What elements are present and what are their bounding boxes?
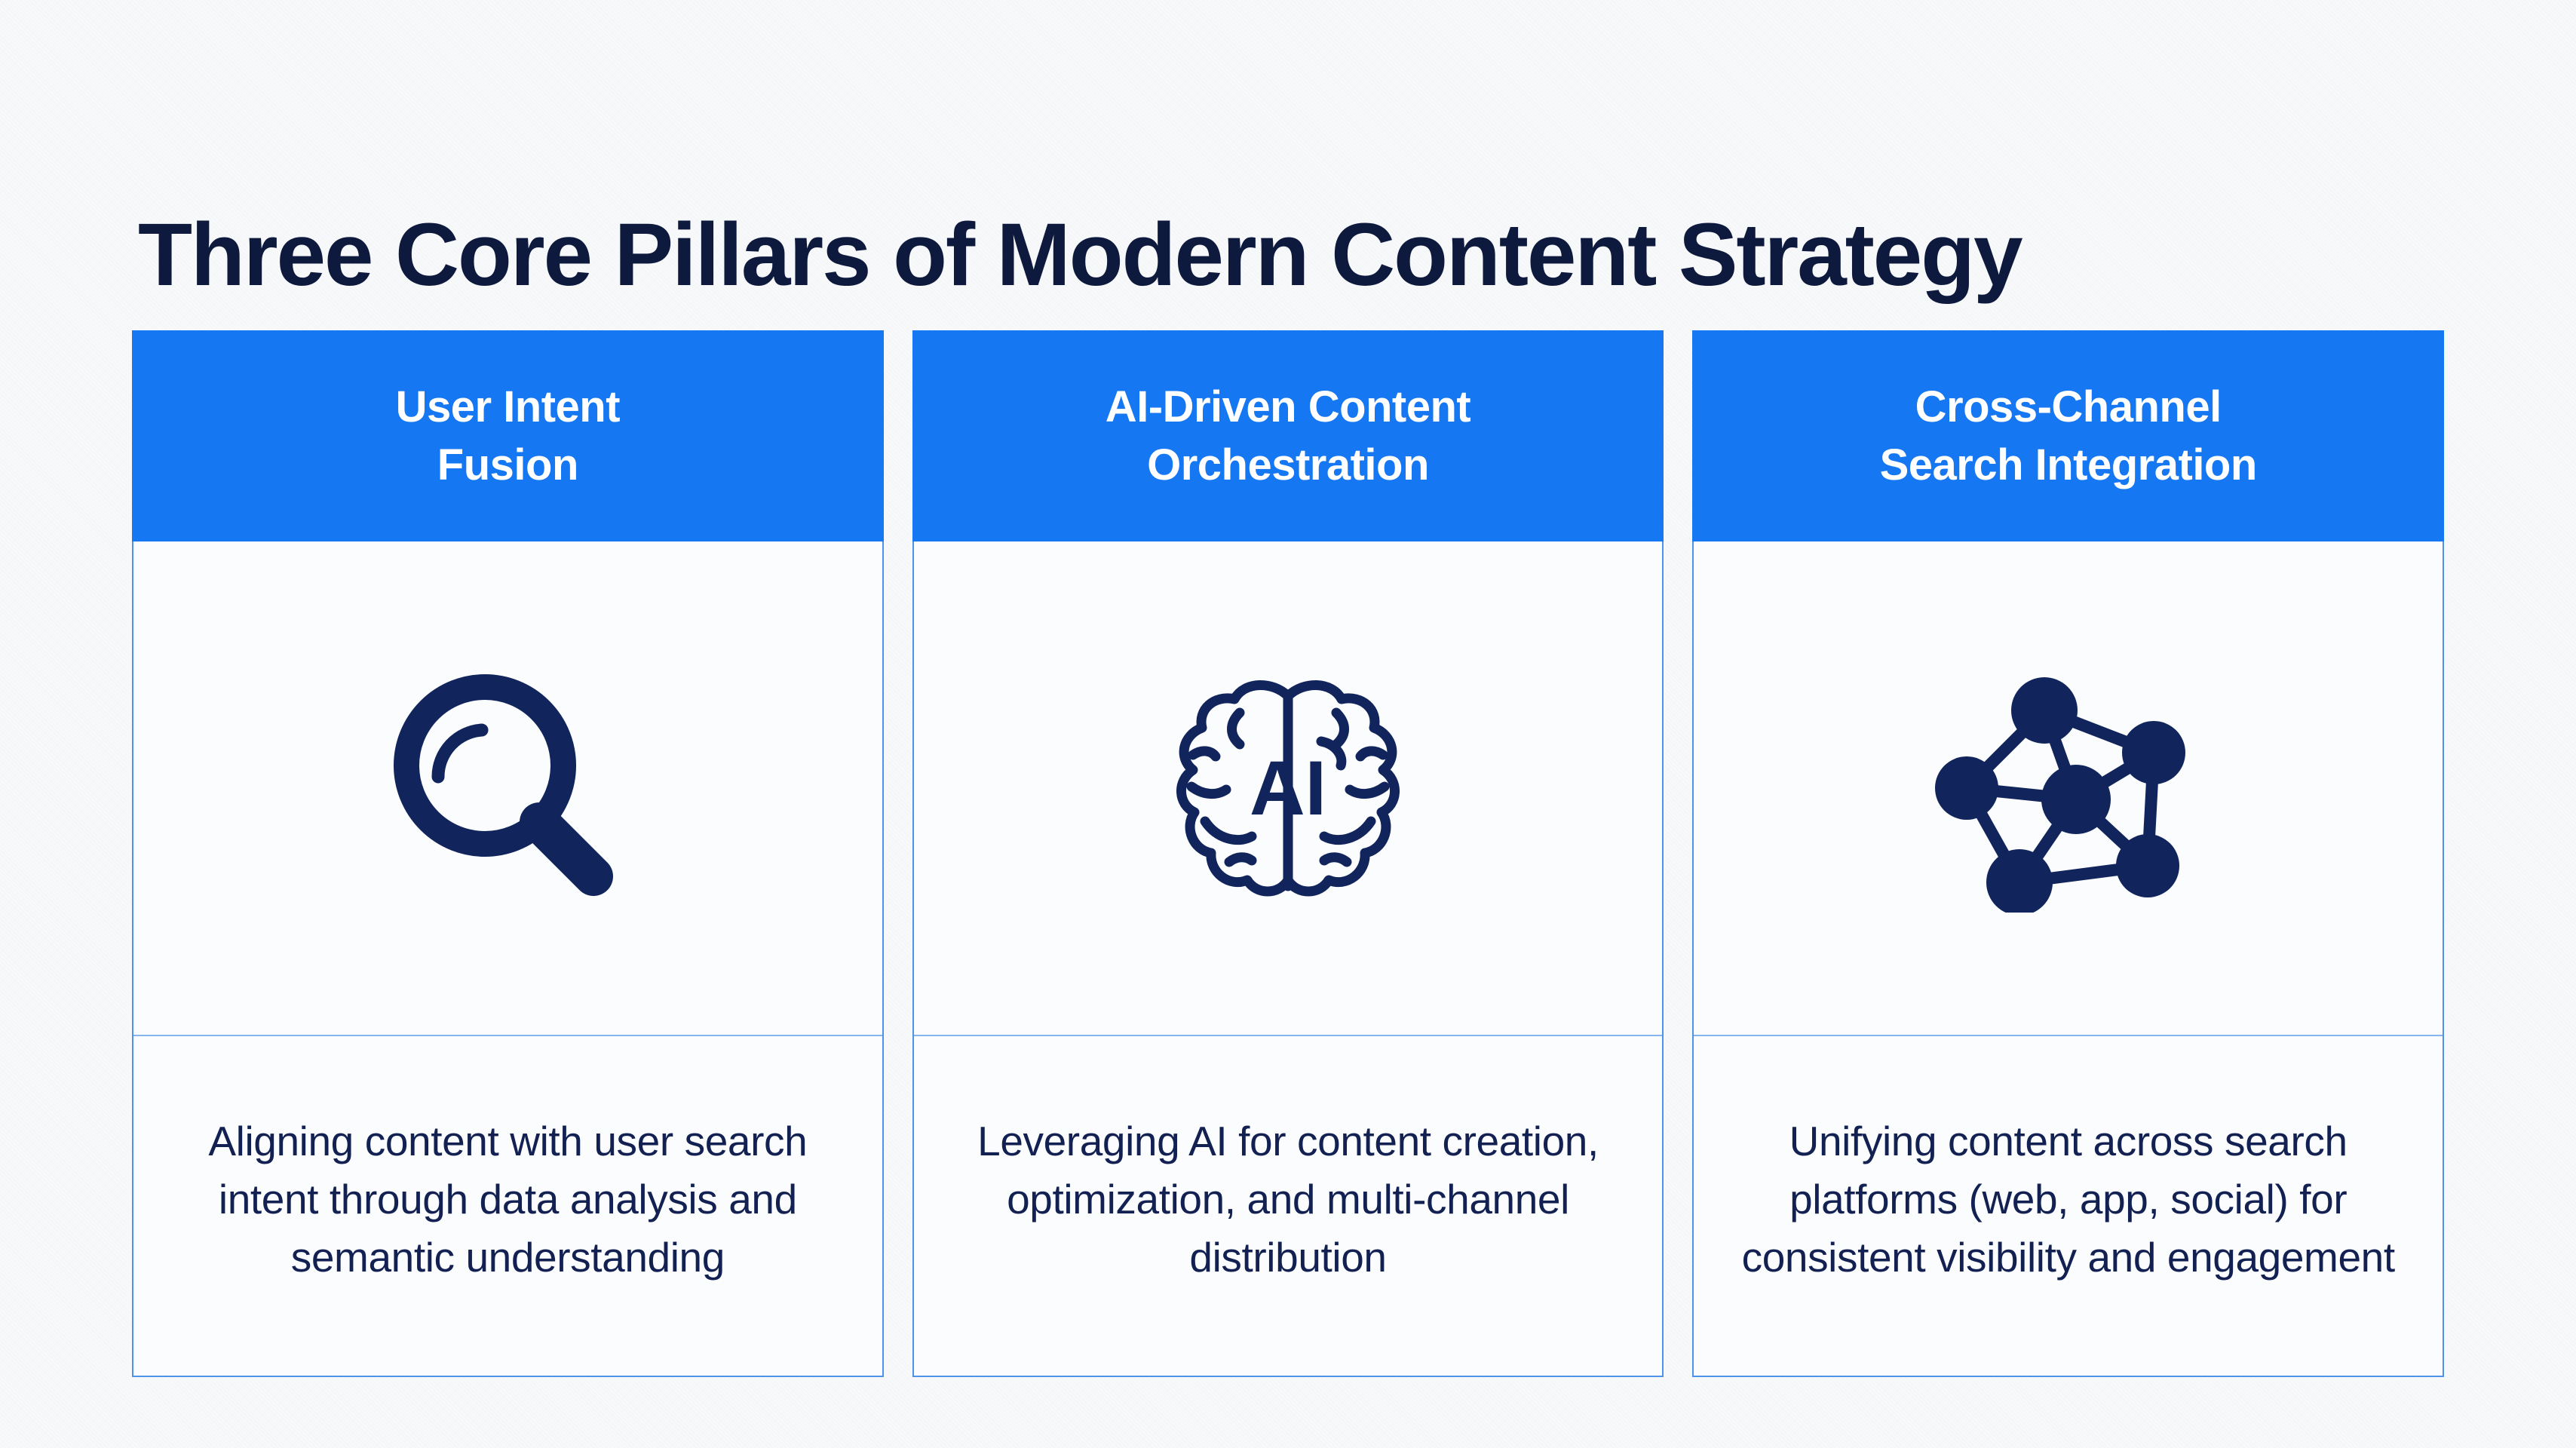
network-nodes-icon	[1921, 664, 2216, 913]
magnifying-glass-icon	[387, 664, 628, 913]
card-description: Aligning content with user search intent…	[173, 1112, 843, 1287]
card-description: Unifying content across search platforms…	[1733, 1112, 2403, 1287]
brain-ai-icon: AI	[1160, 660, 1416, 916]
card-header-line-2: Orchestration	[1147, 440, 1429, 489]
card-header-user-intent-fusion: User Intent Fusion	[132, 330, 884, 541]
card-header-line-1: AI-Driven Content	[1106, 382, 1471, 431]
card-header-cross-channel-search-integration: Cross-Channel Search Integration	[1692, 330, 2444, 541]
pillar-card-user-intent-fusion[interactable]: User Intent Fusion Aligning content with…	[132, 330, 884, 1377]
page-title: Three Core Pillars of Modern Content Str…	[138, 207, 2021, 303]
card-header-line-2: Search Integration	[1880, 440, 2257, 489]
pillar-card-cross-channel-search-integration[interactable]: Cross-Channel Search Integration	[1692, 330, 2444, 1377]
card-icon-area-user-intent-fusion	[133, 541, 882, 1036]
card-header-line-1: Cross-Channel	[1915, 382, 2222, 431]
pillar-card-row: User Intent Fusion Aligning content with…	[132, 330, 2444, 1377]
card-description: Leveraging AI for content creation, opti…	[953, 1112, 1624, 1287]
card-header-line-2: Fusion	[437, 440, 578, 489]
card-header-line-1: User Intent	[396, 382, 620, 431]
card-icon-area-ai-driven-content-orchestration: AI	[914, 541, 1663, 1036]
card-header-ai-driven-content-orchestration: AI-Driven Content Orchestration	[912, 330, 1664, 541]
card-description-area-ai-driven-content-orchestration: Leveraging AI for content creation, opti…	[914, 1036, 1663, 1376]
brain-icon-ai-label: AI	[1250, 745, 1326, 831]
pillar-card-ai-driven-content-orchestration[interactable]: AI-Driven Content Orchestration	[912, 330, 1664, 1377]
card-icon-area-cross-channel-search-integration	[1694, 541, 2443, 1036]
card-description-area-cross-channel-search-integration: Unifying content across search platforms…	[1694, 1036, 2443, 1376]
card-description-area-user-intent-fusion: Aligning content with user search intent…	[133, 1036, 882, 1376]
infographic-page: Three Core Pillars of Modern Content Str…	[0, 0, 2576, 1448]
